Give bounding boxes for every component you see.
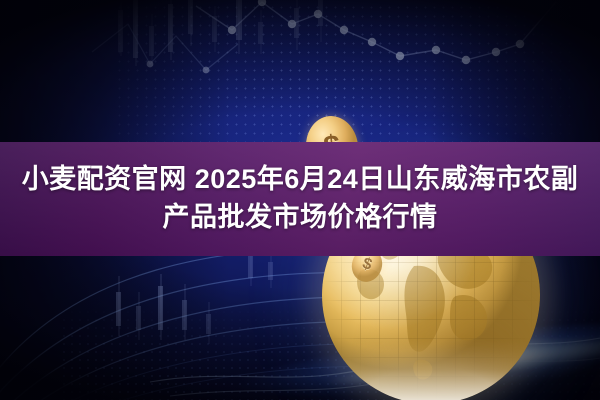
headline-line-1: 小麦配资官网 2025年6月24日山东威海市农副 (22, 162, 579, 198)
globe-highlight (322, 338, 540, 400)
headline-line-2: 产品批发市场价格行情 (163, 200, 438, 236)
banner-image: $ $ $ 小麦配资官网 2025年6月24日山东威海市农副 产品批发市场价格行… (0, 0, 600, 400)
headline-band: 小麦配资官网 2025年6月24日山东威海市农副 产品批发市场价格行情 (0, 142, 600, 256)
banner-headline: 小麦配资官网 2025年6月24日山东威海市农副 产品批发市场价格行情 (0, 142, 600, 256)
dollar-sign-glyph: $ (360, 255, 374, 275)
